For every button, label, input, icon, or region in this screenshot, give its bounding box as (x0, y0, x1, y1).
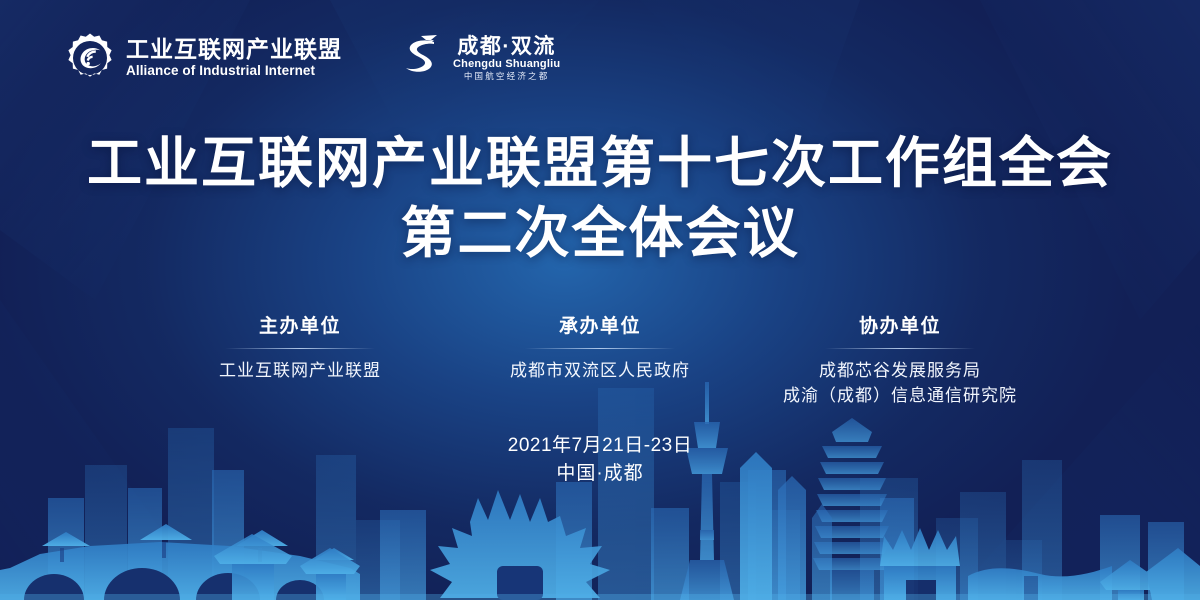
alliance-name-cn: 工业互联网产业联盟 (126, 38, 342, 61)
s-ribbon-airplane-icon (401, 32, 445, 84)
chengdu-shuangliu-logo: 成都·双流 Chengdu Shuangliu 中国航空经济之都 (401, 32, 560, 84)
alliance-of-industrial-internet-logo: 工业互联网产业联盟 Alliance of Industrial Interne… (64, 32, 342, 84)
organizer-column-host: 主办单位 工业互联网产业联盟 (150, 316, 450, 383)
organizer-name: 成都市双流区人民政府 (450, 358, 750, 384)
organizer-name: 成都芯谷发展服务局 (750, 358, 1050, 384)
shuangliu-name-cn: 成都·双流 (457, 36, 556, 57)
shuangliu-tagline: 中国航空经济之都 (464, 72, 550, 81)
event-title-line-2: 第二次全体会议 (0, 198, 1200, 268)
organizer-role-label: 承办单位 (450, 316, 750, 339)
conference-banner: 工业互联网产业联盟 Alliance of Industrial Interne… (0, 0, 1200, 600)
event-location: 中国·成都 (0, 460, 1200, 488)
organizer-column-undertaker: 承办单位 成都市双流区人民政府 (450, 316, 750, 383)
organizer-role-label: 主办单位 (150, 316, 450, 339)
organizer-divider (225, 348, 375, 349)
event-details: 2021年7月21日-23日 中国·成都 (0, 432, 1200, 487)
organizer-name: 成渝（成都）信息通信研究院 (750, 383, 1050, 409)
alliance-name-en: Alliance of Industrial Internet (126, 64, 342, 78)
gear-wifi-eye-icon (64, 32, 116, 84)
organizers-row: 主办单位 工业互联网产业联盟 承办单位 成都市双流区人民政府 协办单位 成都芯谷… (0, 316, 1200, 409)
organizer-divider (825, 348, 975, 349)
shuangliu-name-en: Chengdu Shuangliu (453, 59, 560, 70)
alliance-logo-text: 工业互联网产业联盟 Alliance of Industrial Interne… (126, 38, 342, 78)
organizer-name: 工业互联网产业联盟 (150, 358, 450, 384)
event-title-line-1: 工业互联网产业联盟第十七次工作组全会 (0, 128, 1200, 198)
shuangliu-logo-text: 成都·双流 Chengdu Shuangliu 中国航空经济之都 (453, 36, 560, 81)
organizer-role-label: 协办单位 (750, 316, 1050, 339)
logo-row: 工业互联网产业联盟 Alliance of Industrial Interne… (64, 32, 560, 84)
organizer-divider (525, 348, 675, 349)
organizer-column-coorganizer: 协办单位 成都芯谷发展服务局 成渝（成都）信息通信研究院 (750, 316, 1050, 409)
event-date: 2021年7月21日-23日 (0, 432, 1200, 460)
event-title: 工业互联网产业联盟第十七次工作组全会 第二次全体会议 (0, 128, 1200, 269)
